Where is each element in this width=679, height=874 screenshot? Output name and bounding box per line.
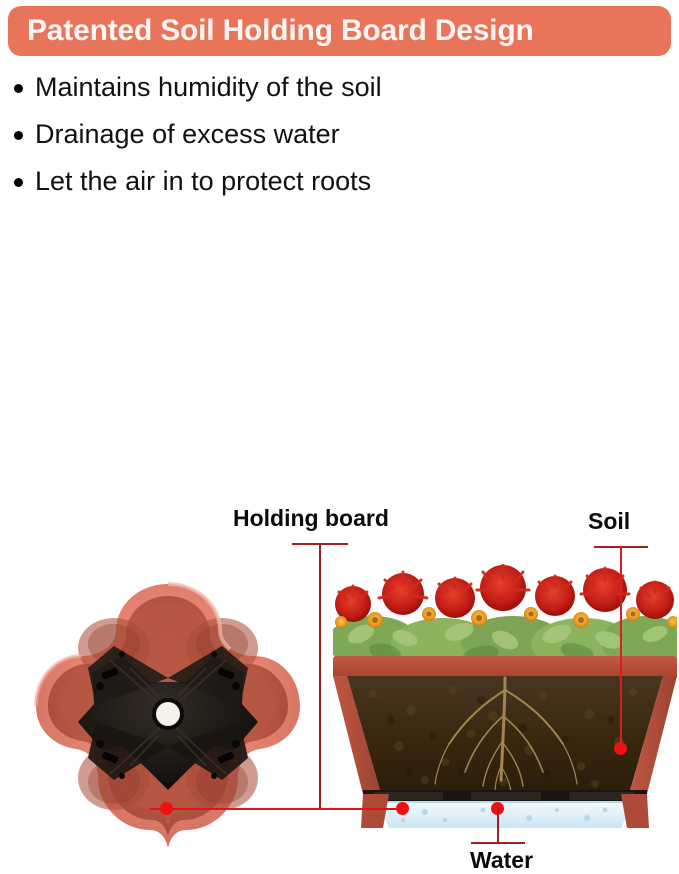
list-item: Let the air in to protect roots (14, 164, 664, 211)
drainage-hole (156, 702, 180, 726)
leader-tick-water (471, 842, 525, 844)
list-item: Maintains humidity of the soil (14, 70, 664, 117)
leader-stem-water (497, 808, 499, 844)
leader-dot-soil (614, 742, 627, 755)
water-reservoir (377, 802, 633, 828)
pot-foot-left (361, 794, 389, 828)
list-item-label: Maintains humidity of the soil (35, 70, 382, 104)
leader-dot-left-board (160, 802, 173, 815)
bullet-dot-icon (14, 178, 23, 187)
pot-foot-right (621, 794, 649, 828)
callout-label-holding-board: Holding board (233, 505, 389, 532)
red-blooms (335, 564, 674, 622)
header-banner: Patented Soil Holding Board Design (8, 6, 671, 56)
planter-cross-section (333, 564, 677, 832)
feature-list: Maintains humidity of the soil Drainage … (14, 70, 664, 211)
list-item: Drainage of excess water (14, 117, 664, 164)
leader-line-holding-board-connector (150, 808, 402, 810)
leader-dot-right-board (396, 802, 409, 815)
chrysanthemum-flowers (333, 564, 677, 662)
product-diagram: Holding board Soil Water (0, 230, 679, 652)
leader-stem-holding-board (319, 543, 321, 809)
bullet-dot-icon (14, 131, 23, 140)
bullet-dot-icon (14, 84, 23, 93)
page-title: Patented Soil Holding Board Design (8, 16, 534, 46)
callout-label-soil: Soil (588, 508, 630, 535)
list-item-label: Drainage of excess water (35, 117, 340, 151)
list-item-label: Let the air in to protect roots (35, 164, 371, 198)
callout-label-water: Water (470, 847, 533, 874)
planter-rim (333, 656, 677, 678)
leader-stem-soil (620, 546, 622, 748)
